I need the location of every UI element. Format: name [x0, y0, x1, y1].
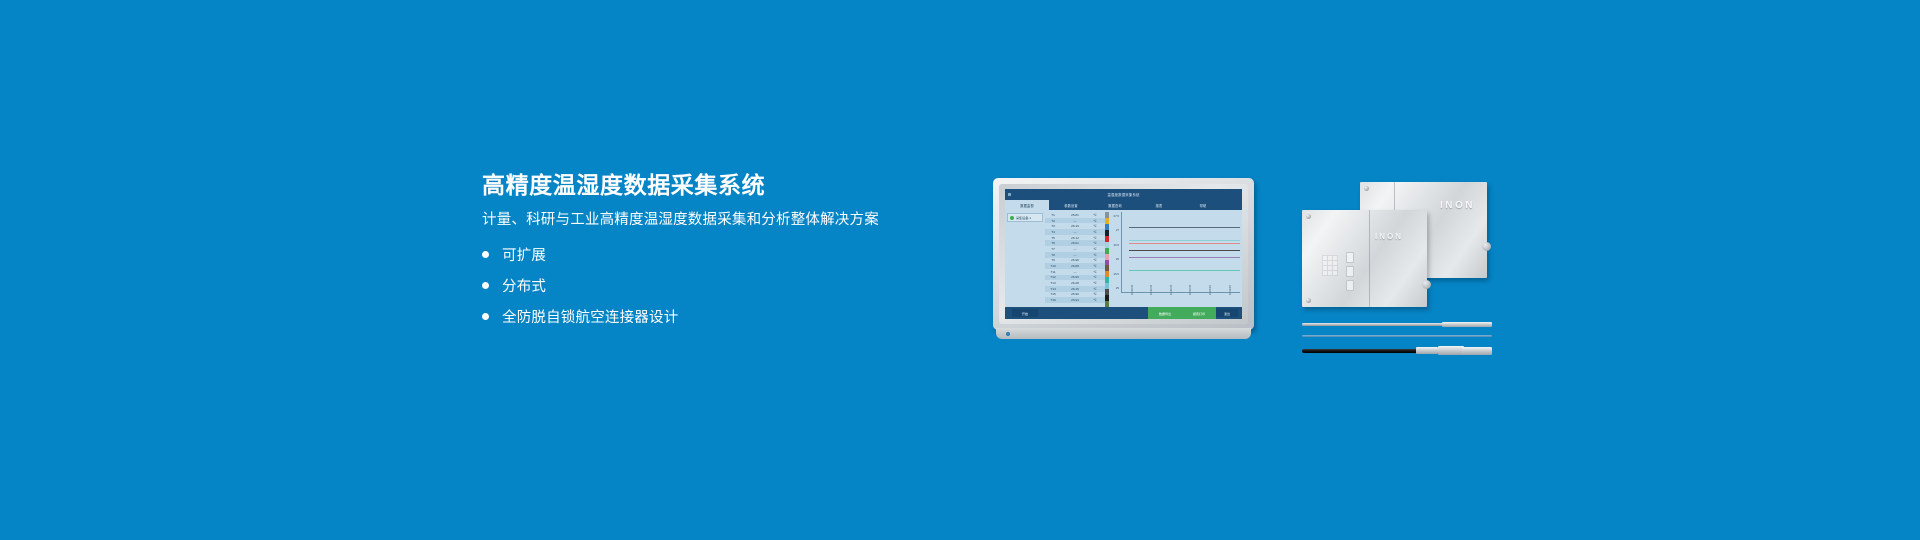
feature-item-1: 可扩展 — [482, 246, 952, 264]
channel-unit: ℃ — [1089, 292, 1101, 296]
app-logo-icon — [1008, 193, 1011, 196]
chart-x-tick: 10:50:15 — [1189, 285, 1192, 295]
table-row[interactable]: T125.81℃ — [1045, 212, 1105, 218]
channel-value: 26.98 — [1061, 258, 1089, 262]
monitor-product-image: 温湿度数据采集系统 数据监视 参数设置 数据查询 报表 帮助 采 — [993, 178, 1254, 358]
channel-unit: ℃ — [1089, 287, 1101, 291]
chart-y-tick: 27.5 — [1114, 214, 1119, 218]
table-row[interactable]: T626.61℃ — [1045, 240, 1105, 246]
product-banner: 高精度温湿度数据采集系统 计量、科研与工业高精度温湿度数据采集和分析整体解决方案… — [0, 0, 1920, 540]
feature-label: 分布式 — [502, 275, 546, 296]
table-row[interactable]: T8---℃ — [1045, 252, 1105, 258]
chart-trend-line — [1129, 250, 1240, 251]
table-row[interactable]: T1426.15℃ — [1045, 286, 1105, 292]
channel-id: T11 — [1045, 270, 1061, 274]
probe-connector-end — [1462, 347, 1492, 355]
connector-block — [1346, 280, 1354, 291]
chart-x-tick: 11:10:15 — [1229, 285, 1232, 295]
channel-unit: ℃ — [1089, 264, 1101, 268]
table-row[interactable]: T1626.94℃ — [1045, 297, 1105, 303]
channel-value: --- — [1061, 270, 1089, 274]
chart-trend-line — [1129, 240, 1240, 241]
channel-unit: ℃ — [1089, 247, 1101, 251]
table-row[interactable]: T7---℃ — [1045, 246, 1105, 252]
chart-y-tick: 25.5 — [1114, 272, 1119, 276]
channel-id: T7 — [1045, 247, 1061, 251]
bullet-dot-icon — [482, 313, 489, 320]
chart-trend-line — [1129, 257, 1240, 258]
channel-id: T9 — [1045, 258, 1061, 262]
chart-trend-line — [1129, 270, 1240, 271]
channel-value: --- — [1061, 253, 1089, 257]
chart-y-tick: 26.5 — [1114, 243, 1119, 247]
probe-connector-body — [1438, 346, 1464, 355]
feature-label: 可扩展 — [502, 244, 546, 265]
table-row[interactable]: T926.98℃ — [1045, 258, 1105, 264]
screw-icon — [1306, 214, 1311, 219]
channel-unit: ℃ — [1089, 230, 1101, 234]
status-online-icon — [1010, 216, 1014, 220]
connector-port — [1422, 280, 1431, 289]
app-titlebar: 温湿度数据采集系统 — [1005, 189, 1242, 200]
channel-value: --- — [1061, 219, 1089, 223]
app-footer: 开始 数据导出 报表打印 退出 — [1005, 307, 1242, 319]
probe-connector-nut — [1416, 347, 1438, 354]
probe-cable — [1302, 335, 1492, 337]
channel-unit: ℃ — [1089, 213, 1101, 217]
chart-x-tick: 11:00:15 — [1209, 285, 1212, 295]
table-row[interactable]: T2---℃ — [1045, 218, 1105, 224]
chart-y-axis: 27.52726.52625.525 — [1110, 212, 1120, 292]
tab-settings[interactable]: 参数设置 — [1049, 200, 1093, 210]
app-tabbar: 数据监视 参数设置 数据查询 报表 帮助 — [1005, 200, 1242, 210]
connector-block — [1346, 266, 1354, 277]
page-subtitle: 计量、科研与工业高精度温湿度数据采集和分析整体解决方案 — [482, 212, 952, 229]
channel-id: T14 — [1045, 287, 1061, 291]
chart-trend-line — [1129, 243, 1240, 244]
bullet-dot-icon — [482, 282, 489, 289]
trend-chart: 27.52726.52625.525 10:20:1510:30:1510:40… — [1110, 212, 1240, 307]
channel-unit: ℃ — [1089, 298, 1101, 302]
probe-cable — [1302, 323, 1445, 326]
sensor-probe-steel — [1302, 322, 1492, 327]
channel-value: 26.90 — [1061, 292, 1089, 296]
device-tree-item[interactable]: 采集设备-1 — [1007, 213, 1043, 222]
channel-unit: ℃ — [1089, 241, 1101, 245]
channel-unit: ℃ — [1089, 236, 1101, 240]
channel-value: 26.12 — [1061, 236, 1089, 240]
table-row[interactable]: T1226.90℃ — [1045, 275, 1105, 281]
probe-cable — [1302, 349, 1419, 353]
channel-id: T10 — [1045, 264, 1061, 268]
chart-y-tick: 27 — [1116, 228, 1119, 232]
table-row[interactable]: T526.12℃ — [1045, 235, 1105, 241]
channel-value: --- — [1061, 230, 1089, 234]
connector-port — [1482, 242, 1491, 251]
channel-unit: ℃ — [1089, 270, 1101, 274]
start-button[interactable]: 开始 — [1012, 309, 1038, 317]
chart-y-tick: 25 — [1116, 286, 1119, 290]
table-row[interactable]: T1026.88℃ — [1045, 263, 1105, 269]
channel-id: T6 — [1045, 241, 1061, 245]
chart-trend-line — [1129, 227, 1240, 228]
channel-id: T16 — [1045, 298, 1061, 302]
channel-value: 25.81 — [1061, 213, 1089, 217]
channel-id: T8 — [1045, 253, 1061, 257]
brand-label: INON — [1375, 232, 1403, 241]
hardware-enclosures-image: INON INON — [1302, 182, 1492, 312]
channel-value: 26.90 — [1061, 275, 1089, 279]
sensor-probe-connector — [1302, 346, 1492, 355]
feature-item-3: 全防脱自锁航空连接器设计 — [482, 308, 952, 326]
channel-value: 26.28 — [1061, 281, 1089, 285]
connector-block — [1346, 252, 1354, 263]
feature-item-2: 分布式 — [482, 277, 952, 295]
monitor-base — [996, 328, 1251, 339]
channel-id: T5 — [1045, 236, 1061, 240]
channel-unit: ℃ — [1089, 258, 1101, 262]
channel-value: 26.88 — [1061, 264, 1089, 268]
screw-icon — [1306, 298, 1311, 303]
brand-label: INON — [1440, 200, 1475, 211]
tab-report[interactable]: 报表 — [1137, 200, 1181, 210]
channel-unit: ℃ — [1089, 275, 1101, 279]
channel-id: T3 — [1045, 224, 1061, 228]
acquisition-box-front: INON — [1302, 210, 1427, 307]
page-title: 高精度温湿度数据采集系统 — [482, 173, 952, 198]
tab-help[interactable]: 帮助 — [1181, 200, 1225, 210]
power-led-icon — [1006, 332, 1010, 336]
table-row[interactable]: T11---℃ — [1045, 269, 1105, 275]
app-body: 采集设备-1 T125.81℃T2---℃T326.19℃T4---℃T526.… — [1005, 210, 1242, 307]
channel-id: T4 — [1045, 230, 1061, 234]
channel-color-legend — [1105, 212, 1109, 307]
exit-button[interactable]: 退出 — [1216, 309, 1238, 317]
sensor-probes-image — [1302, 322, 1492, 362]
channel-table: T125.81℃T2---℃T326.19℃T4---℃T526.12℃T626… — [1045, 210, 1105, 307]
channel-value: 26.15 — [1061, 287, 1089, 291]
table-row[interactable]: T4---℃ — [1045, 229, 1105, 235]
tab-data-query[interactable]: 数据查询 — [1093, 200, 1137, 210]
channel-id: T15 — [1045, 292, 1061, 296]
device-tree-panel: 采集设备-1 — [1005, 210, 1045, 307]
box-seam — [1369, 210, 1370, 307]
channel-unit: ℃ — [1089, 281, 1101, 285]
print-report-button[interactable]: 报表打印 — [1182, 307, 1216, 319]
channel-unit: ℃ — [1089, 219, 1101, 223]
table-row[interactable]: T326.19℃ — [1045, 223, 1105, 229]
table-row[interactable]: T1526.90℃ — [1045, 292, 1105, 298]
bullet-dot-icon — [482, 251, 489, 258]
chart-plot-area — [1121, 212, 1240, 293]
channel-value: 26.61 — [1061, 241, 1089, 245]
export-data-button[interactable]: 数据导出 — [1148, 307, 1182, 319]
app-window-title: 温湿度数据采集系统 — [1107, 192, 1139, 197]
monitor-inner-frame: 温湿度数据采集系统 数据监视 参数设置 数据查询 报表 帮助 采 — [999, 184, 1248, 324]
channel-unit: ℃ — [1089, 253, 1101, 257]
channel-id: T2 — [1045, 219, 1061, 223]
chart-x-tick: 10:20:15 — [1131, 285, 1134, 295]
channel-id: T13 — [1045, 281, 1061, 285]
monitor-bezel: 温湿度数据采集系统 数据监视 参数设置 数据查询 报表 帮助 采 — [993, 178, 1254, 330]
screw-icon — [1364, 186, 1369, 191]
table-row[interactable]: T1326.28℃ — [1045, 280, 1105, 286]
chart-y-tick: 26 — [1116, 257, 1119, 261]
tab-data-monitor[interactable]: 数据监视 — [1005, 200, 1049, 210]
feature-label: 全防脱自锁航空连接器设计 — [502, 306, 678, 327]
channel-unit: ℃ — [1089, 224, 1101, 228]
channel-id: T12 — [1045, 275, 1061, 279]
sensor-probe-thin — [1302, 335, 1492, 338]
chart-x-tick: 10:30:15 — [1150, 285, 1153, 295]
monitor-screen: 温湿度数据采集系统 数据监视 参数设置 数据查询 报表 帮助 采 — [1005, 189, 1242, 319]
banner-copy-block: 高精度温湿度数据采集系统 计量、科研与工业高精度温湿度数据采集和分析整体解决方案… — [482, 173, 952, 339]
probe-tip — [1442, 322, 1492, 327]
channel-value: 26.94 — [1061, 298, 1089, 302]
channel-value: --- — [1061, 247, 1089, 251]
device-tree-item-label: 采集设备-1 — [1016, 215, 1031, 220]
channel-value: 26.19 — [1061, 224, 1089, 228]
chart-x-tick: 10:40:15 — [1170, 285, 1173, 295]
channel-id: T1 — [1045, 213, 1061, 217]
